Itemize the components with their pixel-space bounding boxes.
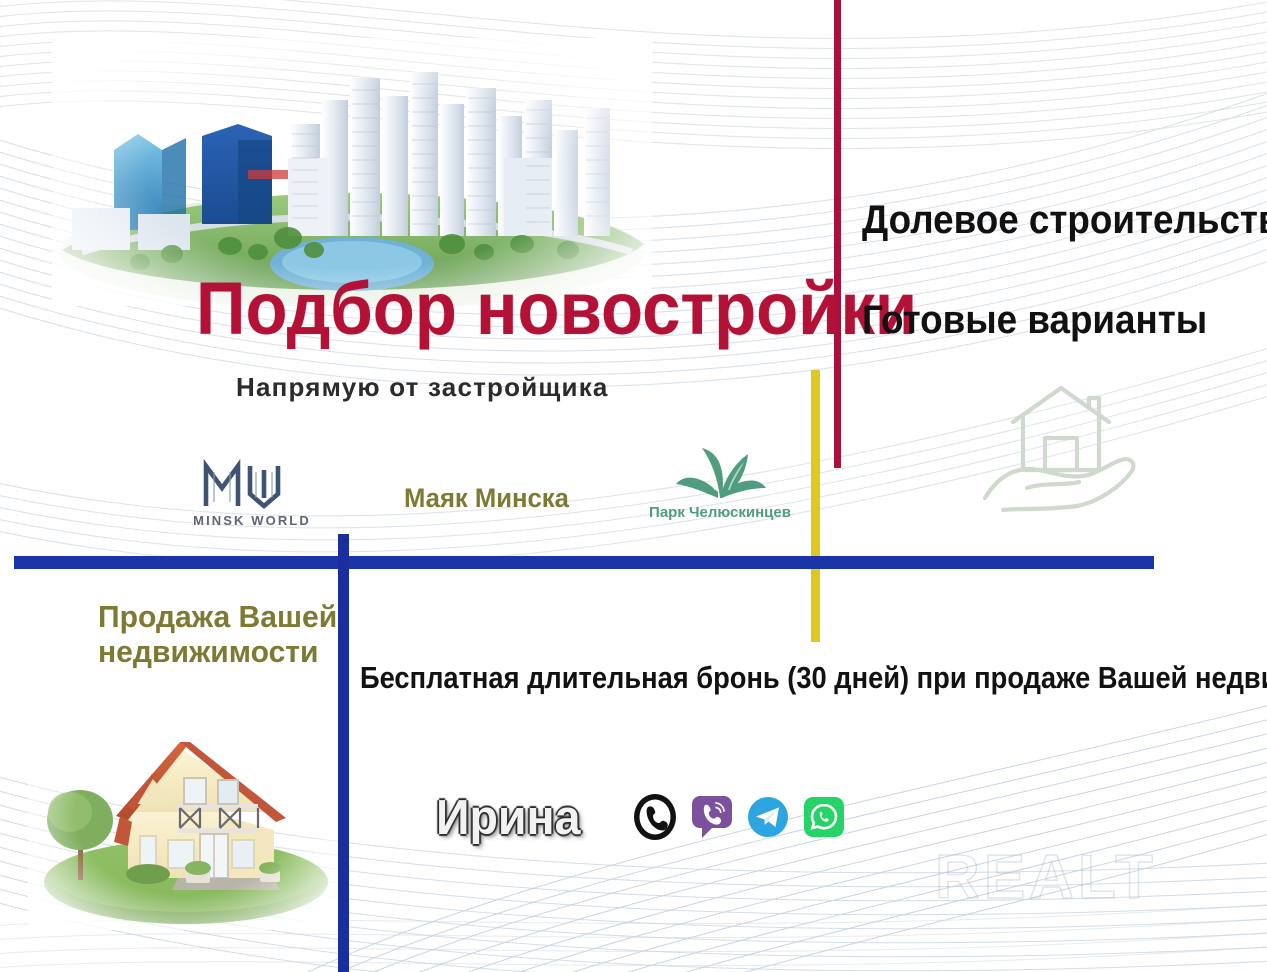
divider-yellow-vertical bbox=[811, 370, 820, 642]
claim-ready-options: Готовые варианты bbox=[862, 298, 1207, 343]
agent-name: Ирина bbox=[436, 790, 581, 846]
brand-label-minsk-world: MINSK WORLD bbox=[186, 513, 318, 528]
telegram-icon[interactable] bbox=[746, 794, 790, 840]
realt-watermark: REALT bbox=[935, 842, 1157, 913]
promo-poster: Подбор новостройки Напрямую от застройщи… bbox=[0, 0, 1267, 972]
sell-property-heading: Продажа Вашей недвижимости bbox=[98, 600, 337, 669]
house-in-hand-icon bbox=[965, 378, 1165, 518]
city-skyline-image bbox=[52, 38, 652, 306]
leaf-sprout-icon bbox=[660, 440, 780, 502]
page-subtitle: Напрямую от застройщика bbox=[236, 372, 609, 403]
brand-label-mayak-minska: Маяк Минска bbox=[404, 483, 556, 514]
sell-property-line1: Продажа Вашей bbox=[98, 599, 337, 634]
divider-blue-horizontal bbox=[14, 556, 1154, 569]
offer-text: Бесплатная длительная бронь (30 дней) пр… bbox=[360, 660, 1267, 696]
viber-icon[interactable] bbox=[690, 794, 734, 840]
whatsapp-icon[interactable] bbox=[802, 794, 846, 840]
brand-park-chelyuskintsev: Парк Челюскинцев bbox=[640, 440, 800, 521]
mw-monogram-icon bbox=[192, 458, 312, 510]
page-title: Подбор новостройки bbox=[196, 272, 917, 346]
claim-shared-construction: Долевое строительство bbox=[862, 198, 1267, 243]
cottage-house-image bbox=[28, 700, 340, 930]
brand-label-park-chelyuskintsev: Парк Челюскинцев bbox=[640, 504, 800, 521]
brand-minsk-world: MINSK WORLD bbox=[186, 458, 318, 528]
brand-mayak-minska: Маяк Минска bbox=[400, 483, 560, 514]
sell-property-line2: недвижимости bbox=[98, 634, 319, 669]
divider-blue-vertical bbox=[338, 534, 349, 972]
phone-icon[interactable] bbox=[632, 792, 678, 842]
contact-icons bbox=[632, 792, 846, 842]
divider-crimson-vertical bbox=[834, 0, 841, 468]
